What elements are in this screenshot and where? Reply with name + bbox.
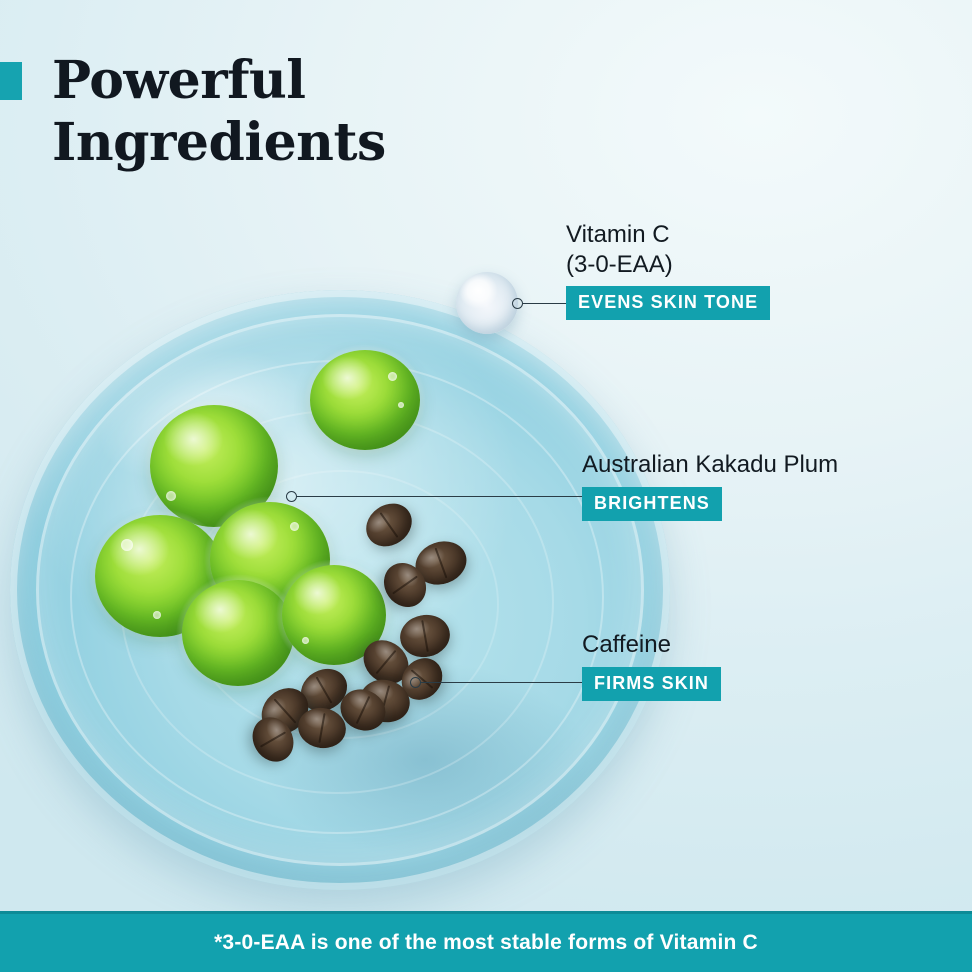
leader-line-vitamin-c [522,303,566,304]
kakadu-plum [310,350,420,450]
callout-tag-caffeine: FIRMS SKIN [582,667,721,701]
callout-kakadu-plum: Australian Kakadu Plum BRIGHTENS [582,450,838,521]
bubble [121,539,133,551]
callout-caffeine: Caffeine FIRMS SKIN [582,630,721,701]
footer-banner: *3-0-EAA is one of the most stable forms… [0,914,972,972]
bubble [398,402,404,408]
footer-note: *3-0-EAA is one of the most stable forms… [214,931,758,955]
page-title: Powerful Ingredients [52,50,572,174]
plum-body [182,580,294,686]
bubble [290,522,299,531]
leader-line-caffeine [420,682,582,683]
callout-vitamin-c: Vitamin C (3-0-EAA) EVENS SKIN TONE [566,220,770,320]
bubble [388,372,397,381]
callout-tag-kakadu-plum: BRIGHTENS [582,487,722,521]
plum-body [310,350,420,450]
callout-title-kakadu-plum: Australian Kakadu Plum [582,450,838,480]
page-title-line2: Ingredients [52,112,572,174]
bubble [302,637,309,644]
vitamin-c-powder-droplet [456,272,518,334]
leader-line-kakadu-plum [296,496,582,497]
header-accent-bar [0,62,22,100]
page-title-line1: Powerful [52,50,572,112]
bubble [166,491,176,501]
poster-canvas: Powerful Ingredients Vitamin C (3-0-EAA)… [0,0,972,972]
callout-title-vitamin-c: Vitamin C (3-0-EAA) [566,220,770,279]
bubble [153,611,161,619]
kakadu-plum [182,580,294,686]
petri-dish [10,290,670,890]
callout-title-caffeine: Caffeine [582,630,721,660]
callout-tag-vitamin-c: EVENS SKIN TONE [566,286,770,320]
